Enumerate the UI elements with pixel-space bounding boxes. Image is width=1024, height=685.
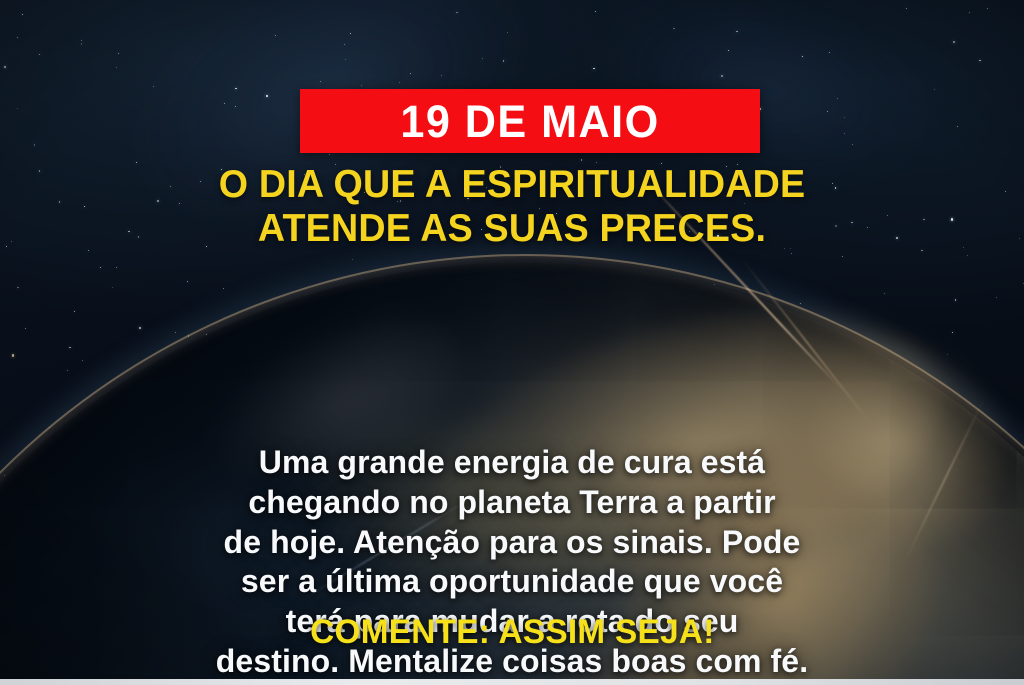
call-to-action-text: COMENTE: ASSIM SEJA! (310, 613, 715, 652)
body-line-1: Uma grande energia de cura está (0, 443, 1024, 483)
headline-line-2: ATENDE AS SUAS PRECES. (18, 207, 1006, 251)
headline: O DIA QUE A ESPIRITUALIDADE ATENDE AS SU… (0, 163, 1024, 252)
body-line-2: chegando no planeta Terra a partir (0, 483, 1024, 523)
body-line-3: de hoje. Atenção para os sinais. Pode (0, 523, 1024, 563)
poster-content: 19 DE MAIO O DIA QUE A ESPIRITUALIDADE A… (0, 0, 1024, 685)
bottom-light-strip (0, 679, 1024, 685)
poster-image: 19 DE MAIO O DIA QUE A ESPIRITUALIDADE A… (0, 0, 1024, 685)
call-to-action: COMENTE: ASSIM SEJA! (0, 613, 1024, 652)
body-line-4: ser a última oportunidade que você (0, 562, 1024, 602)
headline-line-1: O DIA QUE A ESPIRITUALIDADE (18, 163, 1006, 207)
date-banner: 19 DE MAIO (300, 89, 760, 153)
date-banner-text: 19 DE MAIO (400, 99, 659, 144)
